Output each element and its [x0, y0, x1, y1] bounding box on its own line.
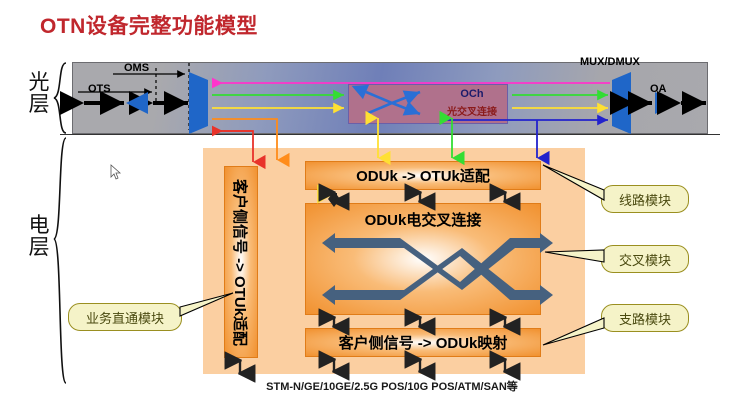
client-to-oduk-mapping-label: 客户侧信号 -> ODUk映射 — [339, 332, 508, 353]
ots-label: OTS — [88, 83, 111, 95]
electrical-layer-brace — [54, 138, 66, 383]
callout-line-module-label: 线路模块 — [619, 190, 671, 209]
och-subtitle: 光交叉连接 — [432, 103, 512, 118]
optical-layer-divider — [60, 134, 720, 135]
client-signal-types-caption: STM-N/GE/10GE/2.5G POS/10G POS/ATM/SAN等 — [232, 378, 552, 394]
oduk-to-otuk-adaptation-box: ODUk -> OTUk适配 — [305, 161, 541, 190]
optical-layer-label: 光 层 — [18, 72, 60, 116]
callout-passthrough-module-label: 业务直通模块 — [86, 308, 164, 327]
oduk-crossconnect-label: ODUk电交叉连接 — [305, 209, 541, 230]
mux-dmux-label: MUX/DMUX — [580, 56, 640, 68]
callout-tributary-module: 支路模块 — [601, 304, 689, 332]
callout-line-module: 线路模块 — [601, 185, 689, 213]
callout-crossconnect-module-label: 交叉模块 — [619, 250, 671, 269]
electrical-layer-label: 电 层 — [18, 215, 60, 259]
oduk-to-otuk-adaptation-label: ODUk -> OTUk适配 — [356, 165, 490, 186]
client-to-otuk-adaptation-label: 客户侧信号 -> OTUk适配 — [231, 178, 252, 345]
callout-crossconnect-module: 交叉模块 — [601, 245, 689, 273]
page-title: OTN设备完整功能模型 — [40, 10, 258, 40]
och-title: OCh — [440, 88, 504, 100]
client-to-otuk-adaptation-box: 客户侧信号 -> OTUk适配 — [224, 166, 258, 358]
callout-tributary-module-label: 支路模块 — [619, 309, 671, 328]
callout-passthrough-module: 业务直通模块 — [68, 303, 182, 331]
oms-label: OMS — [124, 62, 149, 74]
client-to-oduk-mapping-box: 客户侧信号 -> ODUk映射 — [305, 328, 541, 357]
oa-label: OA — [650, 83, 667, 95]
mouse-cursor — [111, 165, 120, 179]
